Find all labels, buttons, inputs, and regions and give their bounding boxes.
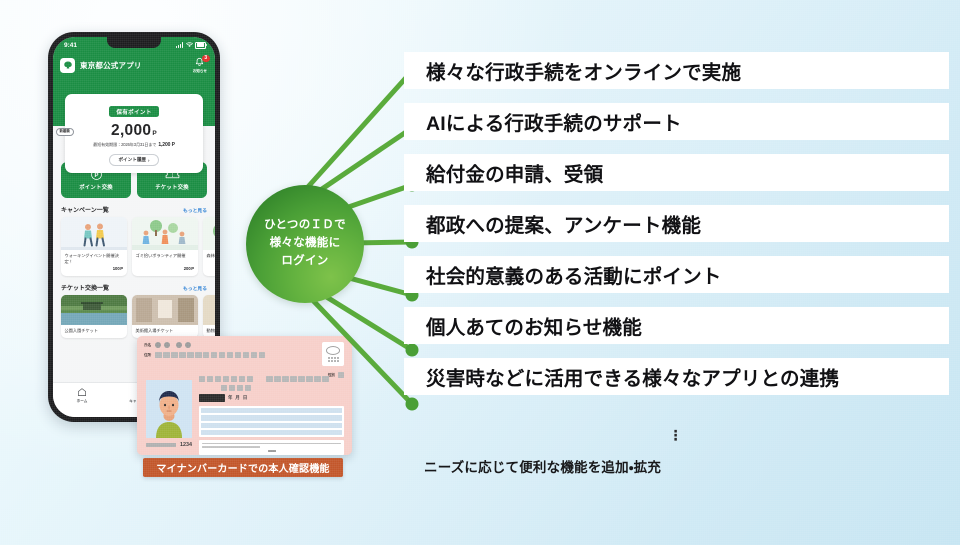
mynumber-day-label: 日 (243, 395, 247, 401)
feature-item: 社会的意義のある活動にポイント (404, 256, 949, 293)
feature-item: 災害時などに活用できる様々なアプリとの連携 (404, 358, 949, 395)
forest-illustration (203, 217, 215, 250)
mynumber-address-label: 住所 (144, 353, 151, 358)
campaign-points-value: 100 (113, 266, 120, 271)
svg-text:P: P (94, 173, 98, 179)
ticket-title: 公園入園チケット (61, 325, 127, 338)
point-balance-card: 保有ポイント 2,000P 最短有効期限：2026年3月31日まで1,200 P… (65, 94, 203, 174)
point-history-label: ポイント履歴 (118, 157, 146, 163)
feature-item: AIによる行政手続のサポート (404, 103, 949, 140)
mynumber-month-label: 月 (235, 395, 239, 401)
campaign-title: ゴミ拾いボランティア開催 (132, 250, 198, 265)
list-item[interactable]: 新着順 ウォーキングイベント開催決定！ 100P (61, 217, 127, 276)
list-item[interactable]: 公園入園チケット (61, 295, 127, 338)
mynumber-detail-area: 年 月 日 (199, 376, 344, 455)
campaign-section-header: キャンペーン一覧 もっと見る (61, 205, 207, 214)
point-amount-value: 2,000 (111, 122, 151, 139)
notification-label: お知らせ (193, 69, 207, 74)
wifi-icon (186, 42, 193, 48)
portrait-illustration (146, 380, 192, 438)
mynumber-address-row: 住所 (144, 352, 345, 358)
campaign-points: 300P (203, 265, 215, 276)
feature-item: 個人あてのお知らせ機能 (404, 307, 949, 344)
campaign-points-unit: P (191, 266, 194, 271)
ticket-more-link[interactable]: もっと見る (183, 285, 207, 292)
notification-badge: 3 (202, 55, 210, 63)
feature-item: 様々な行政手続をオンラインで実施 (404, 52, 949, 89)
footnote-text: ニーズに応じて便利な機能を追加・拡充 (424, 456, 661, 476)
campaign-title: 森林保全活動 (203, 250, 215, 265)
campaign-points: 100P (61, 265, 127, 276)
barcode-bar (146, 443, 176, 447)
battery-icon (195, 42, 206, 49)
campaign-section-title: キャンペーン一覧 (61, 205, 109, 214)
tab-home-label: ホーム (77, 399, 88, 404)
campaign-card-row: 新着順 ウォーキングイベント開催決定！ 100P (61, 217, 207, 276)
point-expiry-label: 最短有効期限：2026年3月31日まで (93, 142, 156, 147)
feature-label: 都政への提案、アンケート機能 (426, 209, 701, 238)
app-header: 東京都公式アプリ 3 お知らせ (53, 53, 215, 80)
tab-home[interactable]: ホーム (65, 387, 99, 404)
feature-list: 様々な行政手続をオンラインで実施 AIによる行政手続のサポート 給付金の申請、受… (404, 52, 949, 409)
campaign-points: 200P (132, 265, 198, 276)
campaign-more-link[interactable]: もっと見る (183, 207, 207, 214)
mynumber-address-redacted (155, 352, 265, 358)
zoo-photo (203, 295, 215, 325)
notification-button[interactable]: 3 お知らせ (193, 57, 207, 74)
status-time: 9:41 (64, 42, 77, 49)
signal-bars-icon (176, 42, 183, 48)
feature-label: 給付金の申請、受領 (426, 158, 603, 187)
japanese-garden-photo (61, 295, 127, 325)
mynumber-blank-lines (199, 406, 344, 438)
chevron-right-icon: › (148, 158, 150, 163)
hub-line-2: 様々な機能に (270, 235, 341, 253)
mynumber-card: 氏名 住所 性別 (137, 336, 352, 455)
point-chip-label: 保有ポイント (109, 106, 158, 117)
mynumber-name-label: 氏名 (144, 343, 151, 348)
mynumber-black-redaction (199, 394, 225, 402)
status-icons (176, 42, 206, 49)
tokyo-leaf-logo-icon (60, 58, 75, 73)
feature-label: 様々な行政手続をオンラインで実施 (426, 56, 741, 85)
campaign-title: ウォーキングイベント開催決定！ (61, 250, 127, 265)
feature-item: 給付金の申請、受領 (404, 154, 949, 191)
phone-notch (107, 37, 161, 48)
point-exchange-label: ポイント交換 (79, 183, 113, 191)
museum-interior-photo (132, 295, 198, 325)
point-amount: 2,000P (71, 123, 197, 139)
mynumber-card-number: 1234 (180, 442, 192, 448)
mynumber-banner-label: マイナンバーカードでの本人確認機能 (156, 460, 329, 475)
mynumber-banner: マイナンバーカードでの本人確認機能 (143, 458, 343, 477)
list-item[interactable]: 森林保全活動 300P (203, 217, 215, 276)
mynumber-card-number-row: 1234 (146, 442, 192, 448)
campaign-points-value: 200 (184, 266, 191, 271)
list-item[interactable]: 美術館入場チケット (132, 295, 198, 338)
home-icon (77, 387, 87, 397)
list-item[interactable]: 動物園チケット (203, 295, 215, 338)
feature-item: 都政への提案、アンケート機能 (404, 205, 949, 242)
mynumber-redacted-row (199, 376, 344, 382)
mynumber-redacted-row (199, 385, 344, 391)
point-amount-unit: P (152, 130, 157, 137)
point-history-button[interactable]: ポイント履歴 › (109, 154, 158, 166)
mynumber-birthdate-row: 年 月 日 (199, 394, 344, 402)
hub-line-1: ひとつのＩＤで (264, 217, 346, 235)
feature-label: 社会的意義のある活動にポイント (426, 260, 722, 289)
connector-line-1 (298, 71, 412, 198)
app-title: 東京都公式アプリ (80, 60, 142, 71)
ticket-section-title: チケット交換一覧 (61, 283, 109, 292)
ticket-exchange-label: チケット交換 (155, 183, 189, 191)
ic-chip-icon (322, 342, 344, 366)
feature-label: 災害時などに活用できる様々なアプリとの連携 (426, 362, 839, 391)
mynumber-year-label: 年 (228, 395, 232, 401)
hub-line-3: ログイン (281, 253, 328, 271)
hub-circle: ひとつのＩＤで 様々な機能に ログイン (246, 185, 364, 303)
mynumber-name-row: 氏名 (144, 342, 345, 348)
ticket-section-header: チケット交換一覧 もっと見る (61, 283, 207, 292)
point-expiry-value: 1,200 P (158, 142, 175, 148)
slide-canvas: 9:41 (0, 0, 960, 545)
walking-people-illustration (61, 217, 127, 250)
volunteer-cleanup-illustration (132, 217, 198, 250)
mynumber-name-redacted (155, 342, 191, 348)
feature-label: 個人あてのお知らせ機能 (426, 311, 642, 340)
feature-label: AIによる行政手続のサポート (426, 107, 682, 136)
point-expiry: 最短有効期限：2026年3月31日まで1,200 P (71, 142, 197, 148)
status-bar: 9:41 (53, 37, 215, 53)
list-item[interactable]: ゴミ拾いボランティア開催 200P (132, 217, 198, 276)
ticket-card-row: 公園入園チケット 美術館入場チケット (61, 295, 207, 338)
mynumber-footer-lines (199, 440, 344, 455)
campaign-points-unit: P (120, 266, 123, 271)
ellipsis-vertical: ⋮ (404, 428, 949, 442)
